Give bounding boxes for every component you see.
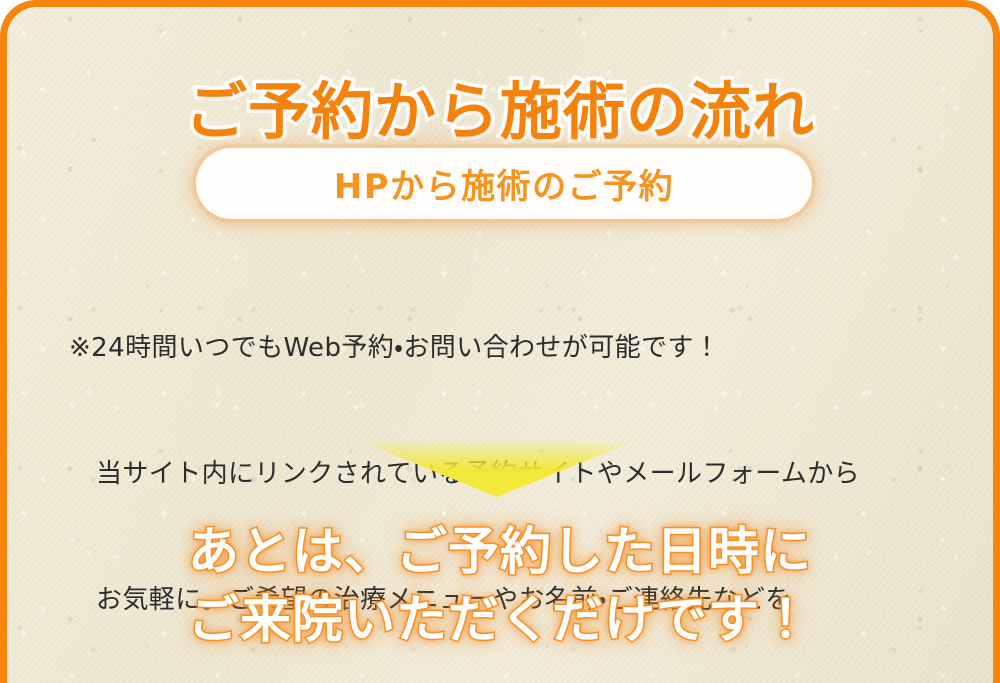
subtitle-pill: HPから施術のご予約 [196,148,812,219]
closing-headline-line-1: あとは、ご予約した日時に [7,519,993,587]
page-title: ご予約から施術の流れ [7,76,993,147]
paper-panel: ご予約から施術の流れ HPから施術のご予約 ※24時間いつでもWeb予約・お問い… [7,7,993,683]
body-note-line-1: ※24時間いつでもWeb予約・お問い合わせが可能です！ [69,327,969,369]
closing-headline-line-2: ご来院いただくだけです！ [7,587,993,655]
closing-headline: あとは、ご予約した日時に ご来院いただくだけです！ [7,519,993,655]
subtitle-pill-label: HPから施術のご予約 [334,159,674,208]
arrow-down-triangle-icon [355,437,639,497]
flow-card: ご予約から施術の流れ HPから施術のご予約 ※24時間いつでもWeb予約・お問い… [0,0,1000,683]
